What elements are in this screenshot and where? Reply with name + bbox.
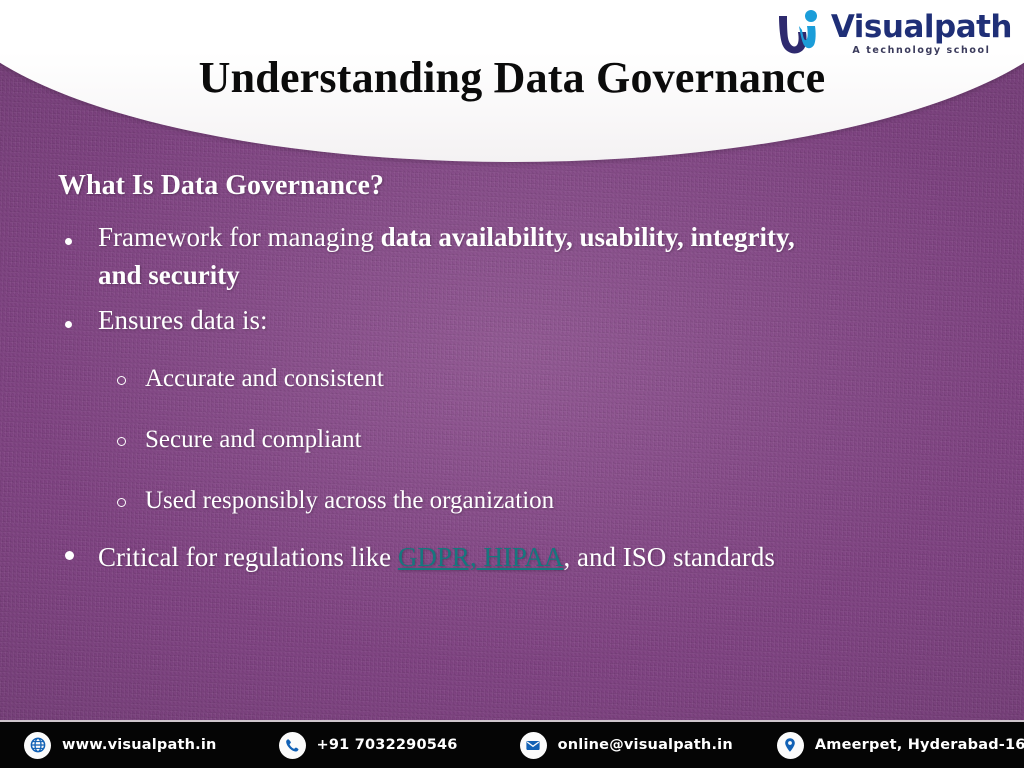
bullet-item-final: Critical for regulations like GDPR, HIPA… — [98, 538, 1024, 576]
sub-bullet-text: Used responsibly across the organization — [145, 487, 554, 514]
bullet-circle-icon — [117, 437, 126, 446]
footer-label-address: Ameerpet, Hyderabad-16 — [815, 737, 1024, 753]
envelope-icon — [520, 732, 547, 759]
bullet-circle-icon — [117, 498, 126, 507]
sub-bullet-text: Secure and compliant — [145, 426, 362, 453]
footer-item-website[interactable]: www.visualpath.in — [24, 732, 217, 759]
bullet-item-2: Ensures data is: — [98, 301, 1024, 339]
footer-item-address[interactable]: Ameerpet, Hyderabad-16 — [777, 732, 1024, 759]
footer-item-phone[interactable]: +91 7032290546 — [279, 732, 458, 759]
globe-icon — [24, 732, 51, 759]
bullet-item-1: Framework for managing data availability… — [98, 218, 1024, 295]
bullet-dot-icon — [65, 321, 72, 328]
sub-bullet-text: Accurate and consistent — [145, 365, 384, 392]
brand-logo: Visualpath A technology school — [773, 6, 1012, 62]
footer-item-email[interactable]: online@visualpath.in — [520, 732, 733, 759]
section-heading: What Is Data Governance? — [58, 170, 1024, 202]
footer-label-website: www.visualpath.in — [62, 737, 217, 753]
bullet-dot-icon — [65, 551, 74, 560]
phone-icon — [279, 732, 306, 759]
presentation-slide: Understanding Data Governance Visualpath… — [0, 0, 1024, 768]
regulations-link[interactable]: GDPR, HIPAA — [398, 542, 564, 572]
logo-name: Visualpath — [831, 12, 1012, 43]
logo-tagline: A technology school — [831, 46, 1012, 56]
bullet-dot-icon — [65, 238, 72, 245]
bullet-text: Ensures data is: — [98, 305, 267, 335]
final-bullet-suffix: , and ISO standards — [563, 542, 774, 572]
sub-bullet-item-3: Used responsibly across the organization — [145, 483, 1024, 518]
final-bullet-prefix: Critical for regulations like — [98, 542, 398, 572]
sub-bullet-item-2: Secure and compliant — [145, 422, 1024, 457]
bullet-text-plain: Framework for managing — [98, 222, 381, 252]
sub-bullet-item-1: Accurate and consistent — [145, 361, 1024, 396]
contact-footer-bar: www.visualpath.in +91 7032290546 online@… — [0, 720, 1024, 768]
visualpath-v-person-logo-icon — [773, 8, 825, 60]
bullet-circle-icon — [117, 376, 126, 385]
footer-label-email: online@visualpath.in — [558, 737, 733, 753]
slide-content: What Is Data Governance? Framework for m… — [0, 170, 1024, 582]
footer-label-phone: +91 7032290546 — [317, 737, 458, 753]
location-pin-icon — [777, 732, 804, 759]
logo-wordmark: Visualpath A technology school — [831, 12, 1012, 56]
